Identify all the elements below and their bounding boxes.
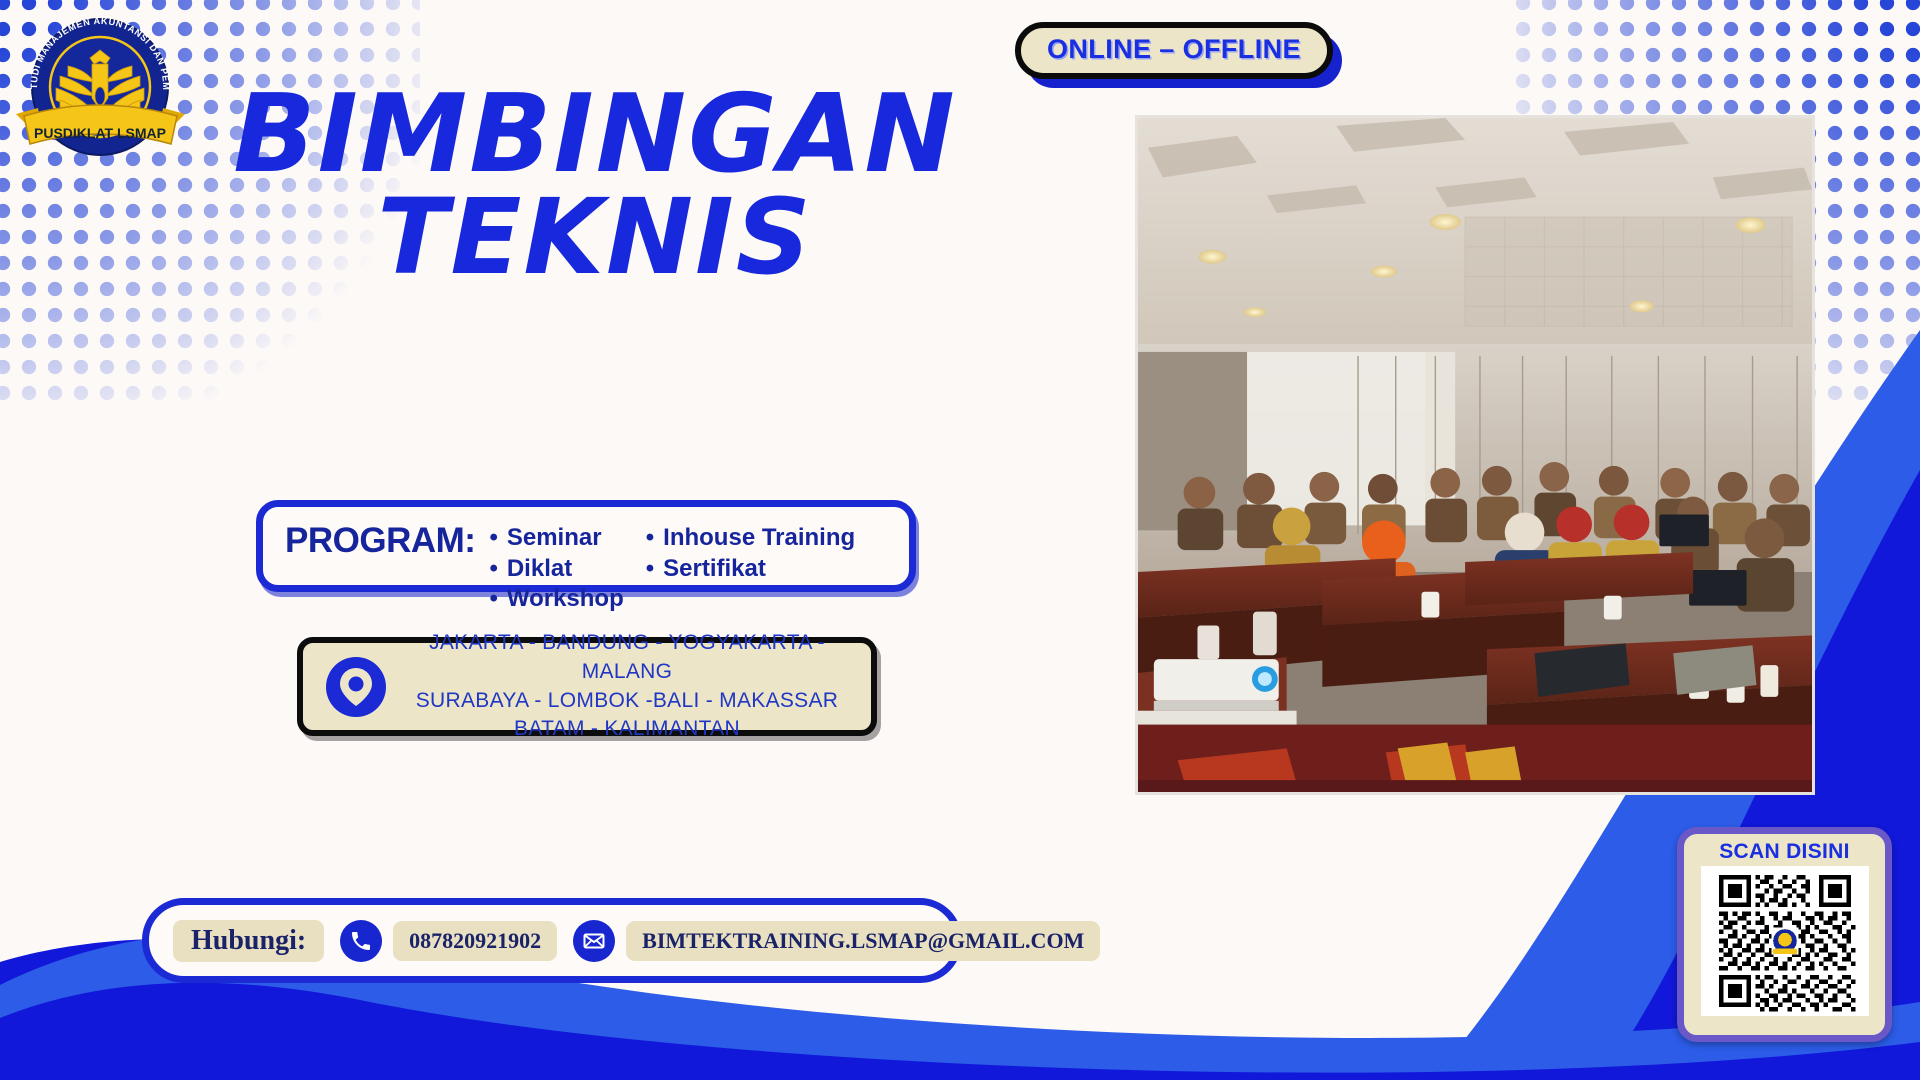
qr-code-image: [1701, 866, 1869, 1016]
contact-bar: Hubungi: 087820921902 BIMTEKTRAINING.LSM…: [142, 898, 962, 983]
program-label: PROGRAM:: [285, 521, 475, 561]
phone-icon: [340, 920, 382, 962]
organization-logo: LEMBAGA STUDI MANAJEMEN AKUNTANSI DAN PE…: [8, 2, 193, 162]
location-line: SURABAYA - LOMBOK -BALI - MAKASSAR: [405, 687, 849, 716]
program-item: Diklat: [489, 554, 623, 585]
location-lines: JAKARTA - BANDUNG - YOGYAKARTA - MALANG …: [405, 629, 849, 745]
qr-scan-card[interactable]: SCAN DISINI: [1677, 827, 1892, 1042]
qr-title: SCAN DISINI: [1694, 840, 1875, 863]
title-line-1: BIMBINGAN: [215, 80, 975, 190]
location-line: BATAM - KALIMANTAN: [405, 715, 849, 744]
badge-label: ONLINE – OFFLINE: [1047, 34, 1301, 64]
location-line: JAKARTA - BANDUNG - YOGYAKARTA - MALANG: [405, 629, 849, 687]
program-item: Workshop: [489, 584, 623, 615]
locations-box: JAKARTA - BANDUNG - YOGYAKARTA - MALANG …: [297, 637, 877, 736]
location-pin-icon: [325, 656, 387, 718]
phone-contact[interactable]: 087820921902: [340, 920, 557, 962]
program-item: Sertifikat: [646, 554, 855, 585]
seminar-photo: [1135, 115, 1815, 795]
title-line-2: TEKNIS: [215, 184, 975, 290]
envelope-icon: [573, 920, 615, 962]
email-address: BIMTEKTRAINING.LSMAP@GMAIL.COM: [626, 921, 1100, 961]
program-item: Seminar: [489, 523, 623, 554]
page-title: BIMBINGAN TEKNIS: [215, 80, 975, 290]
program-box: PROGRAM: Seminar Diklat Workshop Inhouse…: [256, 500, 916, 592]
program-column-1: Seminar Diklat Workshop: [489, 523, 623, 615]
online-offline-badge: ONLINE – OFFLINE: [1015, 22, 1333, 79]
program-column-2: Inhouse Training Sertifikat: [646, 523, 855, 615]
logo-ribbon-text: PUSDIKLAT LSMAP: [34, 125, 166, 141]
phone-number: 087820921902: [393, 921, 557, 961]
email-contact[interactable]: BIMTEKTRAINING.LSMAP@GMAIL.COM: [573, 920, 1100, 962]
program-item: Inhouse Training: [646, 523, 855, 554]
contact-label: Hubungi:: [173, 920, 324, 962]
